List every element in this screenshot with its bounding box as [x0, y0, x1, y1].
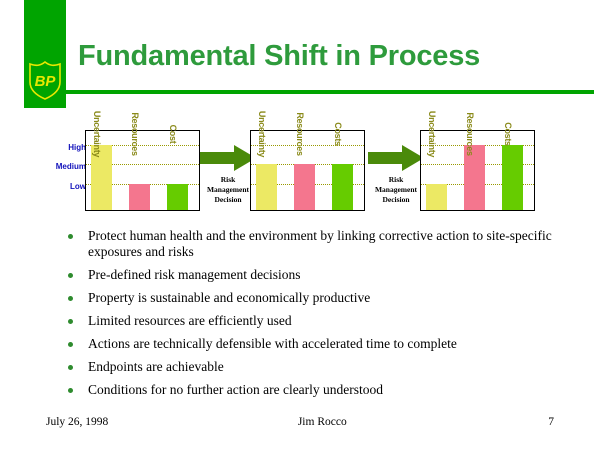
bp-shield-icon: BP: [28, 58, 62, 100]
bar-label: Uncertainty: [257, 111, 267, 157]
list-item: Limited resources are efficiently used: [64, 313, 564, 329]
process-shift-diagram: High Medium Low UncertaintyResourcesCost…: [0, 125, 600, 220]
arrow-caption-2: Risk Management Decision: [366, 175, 426, 205]
arrow-caption-line: Risk: [366, 175, 426, 185]
list-item-text: Protect human health and the environment…: [88, 228, 552, 259]
list-item-text: Conditions for no further action are cle…: [88, 382, 383, 397]
bar-uncertainty: Uncertainty: [91, 145, 112, 210]
bullet-list: Protect human health and the environment…: [64, 228, 564, 405]
bullet-dot-icon: [68, 342, 73, 347]
chart-panel-before: UncertaintyResourcesCost: [85, 130, 200, 211]
list-item: Conditions for no further action are cle…: [64, 382, 564, 398]
bar-resources: Resources: [464, 145, 485, 210]
list-item-text: Actions are technically defensible with …: [88, 336, 457, 351]
arrow-caption-1: Risk Management Decision: [198, 175, 258, 205]
list-item-text: Limited resources are efficiently used: [88, 313, 292, 328]
bar-label: Costs: [333, 122, 343, 146]
bullet-dot-icon: [68, 296, 73, 301]
bar-label: Costs: [503, 122, 513, 146]
svg-text:BP: BP: [35, 73, 57, 90]
bar-cost: Cost: [167, 184, 188, 210]
bar-uncertainty: Uncertainty: [256, 164, 277, 210]
page-title: Fundamental Shift in Process: [78, 40, 480, 73]
list-item-text: Pre-defined risk management decisions: [88, 267, 301, 282]
bar-resources: Resources: [294, 164, 315, 210]
bullet-dot-icon: [68, 388, 73, 393]
axis-labels: High Medium Low: [50, 130, 86, 216]
bullet-dot-icon: [68, 234, 73, 239]
bar-resources: Resources: [129, 184, 150, 210]
footer-page-number: 7: [548, 416, 554, 428]
chart-panel-after: UncertaintyResourcesCosts: [420, 130, 535, 211]
gridline-high: [251, 145, 364, 146]
list-item: Protect human health and the environment…: [64, 228, 564, 260]
footer-author: Jim Rocco: [298, 416, 347, 428]
right-arrow-icon: [368, 145, 424, 171]
bar-label: Resources: [295, 112, 305, 155]
bar-label: Resources: [130, 112, 140, 155]
arrow-caption-line: Risk: [198, 175, 258, 185]
title-divider: [66, 90, 594, 94]
footer-date: July 26, 1998: [46, 416, 108, 428]
arrow-caption-line: Decision: [366, 195, 426, 205]
bar-costs: Costs: [332, 164, 353, 210]
axis-label-medium: Medium: [56, 162, 86, 171]
slide-footer: July 26, 1998 Jim Rocco 7: [46, 416, 554, 428]
list-item-text: Endpoints are achievable: [88, 359, 224, 374]
right-arrow-icon: [200, 145, 256, 171]
bar-label: Resources: [465, 112, 475, 155]
bar-label: Uncertainty: [92, 111, 102, 157]
arrow-caption-line: Management: [366, 185, 426, 195]
arrow-caption-line: Decision: [198, 195, 258, 205]
list-item: Endpoints are achievable: [64, 359, 564, 375]
bar-costs: Costs: [502, 145, 523, 210]
list-item: Pre-defined risk management decisions: [64, 267, 564, 283]
bar-label: Uncertainty: [427, 111, 437, 157]
bar-label: Cost: [168, 125, 178, 144]
bullet-dot-icon: [68, 273, 73, 278]
arrow-caption-line: Management: [198, 185, 258, 195]
arrow-group-1: Risk Management Decision: [198, 145, 258, 217]
list-item: Actions are technically defensible with …: [64, 336, 564, 352]
list-item: Property is sustainable and economically…: [64, 290, 564, 306]
axis-label-high: High: [68, 143, 86, 152]
bp-logo-bar: BP: [24, 0, 66, 108]
chart-panel-during: UncertaintyResourcesCosts: [250, 130, 365, 211]
list-item-text: Property is sustainable and economically…: [88, 290, 370, 305]
bullet-dot-icon: [68, 319, 73, 324]
arrow-group-2: Risk Management Decision: [366, 145, 426, 217]
bullet-dot-icon: [68, 365, 73, 370]
axis-label-low: Low: [70, 182, 86, 191]
bar-uncertainty: Uncertainty: [426, 184, 447, 210]
